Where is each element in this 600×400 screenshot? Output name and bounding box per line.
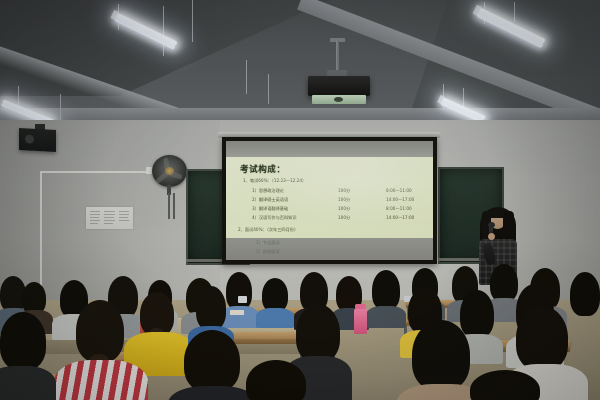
slide-item-1-1-time: 8:00—11:00 xyxy=(386,188,412,193)
slide-item-number: 3） xyxy=(252,206,259,211)
slide-item-1-4-time: 14:00—17:00 xyxy=(386,215,414,220)
slide-item-number: 2） xyxy=(252,197,259,202)
phone-screen xyxy=(238,296,247,303)
slide-item-2-2: 2）综合面试 xyxy=(256,249,280,255)
wall-speaker xyxy=(19,128,56,152)
fan-pole xyxy=(173,193,175,219)
slide-item-label: 思想政治理论 xyxy=(259,188,284,193)
screen-unlit-top xyxy=(226,141,433,158)
projector-pole xyxy=(336,40,339,74)
slide-item-1-3-time: 8:00—11:00 xyxy=(386,206,412,211)
striped-shirt xyxy=(54,360,148,400)
light-hanger-rod xyxy=(246,60,247,94)
ceiling-projector[interactable] xyxy=(308,76,370,96)
microphone-head xyxy=(488,222,495,228)
slide-content: 考试构成： 1、笔试60%：（12.23—12.24） 1）思想政治理论 100… xyxy=(226,157,433,239)
slide-section-2-number: 2、 xyxy=(238,227,245,232)
slide-section-2-label: 面试40%：（次年三四月份） xyxy=(245,227,298,232)
bottle-cap xyxy=(355,304,366,309)
slide-item-1-4-score: 100分 xyxy=(338,215,350,221)
slide-item-label: 翻译语翻译基础 xyxy=(259,206,288,211)
wall-mounted-fan[interactable] xyxy=(152,155,187,187)
slide-item-1-2-time: 14:00—17:00 xyxy=(386,197,414,202)
light-hanger-rod xyxy=(268,74,269,104)
light-hanger-rod xyxy=(192,0,193,42)
paper-sheet xyxy=(230,310,244,315)
slide-title: 考试构成： xyxy=(240,163,286,175)
slide-item-label: 翻译硕士英语语 xyxy=(259,197,288,202)
slide-item-label: 汉语写作与百科知识 xyxy=(259,215,297,220)
classroom-photo: 考试构成： 1、笔试60%：（12.23—12.24） 1）思想政治理论 100… xyxy=(0,0,600,400)
slide-item-1-1: 1）思想政治理论 xyxy=(252,188,284,194)
slide-item-1-3: 3）翻译语翻译基础 xyxy=(252,206,288,212)
slide-item-1-4: 4）汉语写作与百科知识 xyxy=(252,215,297,221)
slide-item-number: 2） xyxy=(256,249,263,254)
slide-item-number: 4） xyxy=(252,215,259,220)
slide-item-2-1: 1）专业面试 xyxy=(256,240,280,246)
slide-section-1-number: 1、 xyxy=(243,178,250,183)
slide-item-1-3-score: 100分 xyxy=(338,206,350,212)
screen-unlit-bottom: 1）专业面试 2）综合面试 xyxy=(226,238,433,260)
slide-item-label: 专业面试 xyxy=(263,240,280,245)
slide-item-1-2: 2）翻译硕士英语语 xyxy=(252,197,288,203)
slide-item-label: 综合面试 xyxy=(263,249,280,254)
projector-lens xyxy=(312,95,366,104)
wall-conduit-horizontal xyxy=(40,171,148,173)
slide-item-1-1-score: 100分 xyxy=(338,188,350,194)
pink-water-bottle xyxy=(354,308,367,334)
presenter-hand xyxy=(488,233,495,240)
slide-item-1-2-score: 100分 xyxy=(338,197,350,203)
ceiling-beam-horizontal xyxy=(0,108,600,120)
slide-section-1-label: 笔试60%：（12.23—12.24） xyxy=(250,178,306,183)
fan-hub xyxy=(165,167,174,175)
light-hanger-rod xyxy=(60,94,61,120)
slide-item-number: 1） xyxy=(252,188,259,193)
fan-pole xyxy=(168,193,170,219)
slide-item-number: 1） xyxy=(256,240,263,245)
paper-notice xyxy=(86,207,133,229)
light-hanger-rod xyxy=(514,2,515,22)
slide-section-1: 1、笔试60%：（12.23—12.24） xyxy=(243,178,306,184)
slide-section-2: 2、面试40%：（次年三四月份） xyxy=(238,227,298,233)
